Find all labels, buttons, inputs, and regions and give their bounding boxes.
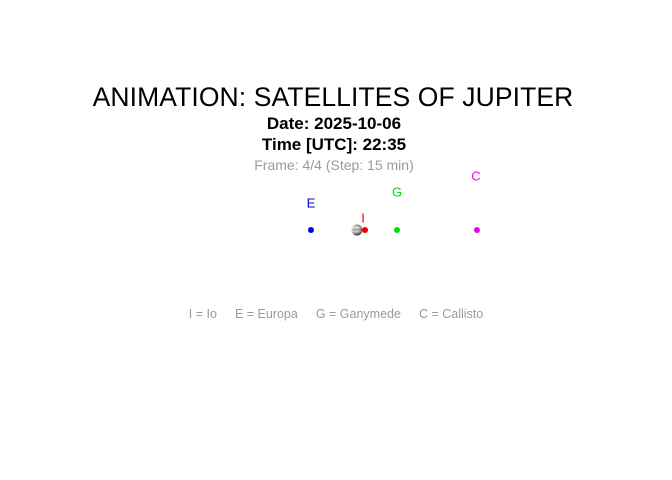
animation-canvas: ANIMATION: SATELLITES OF JUPITER Date: 2… xyxy=(0,0,672,480)
legend-entry: G = Ganymede xyxy=(316,307,401,322)
legend-entry: I = Io xyxy=(189,307,217,322)
moon-label: E xyxy=(307,197,316,210)
jupiter-disc xyxy=(352,225,363,236)
moon-marker xyxy=(394,227,400,233)
moon-label: I xyxy=(361,212,365,225)
legend: I = IoE = EuropaG = GanymedeC = Callisto xyxy=(0,307,672,322)
moon-marker xyxy=(308,227,314,233)
legend-entry: E = Europa xyxy=(235,307,298,322)
moon-marker xyxy=(474,227,480,233)
legend-entry: C = Callisto xyxy=(419,307,483,322)
moon-label: G xyxy=(392,186,402,199)
sky-plot: EIGC xyxy=(0,0,672,480)
moon-label: C xyxy=(471,170,480,183)
moon-marker xyxy=(362,227,368,233)
